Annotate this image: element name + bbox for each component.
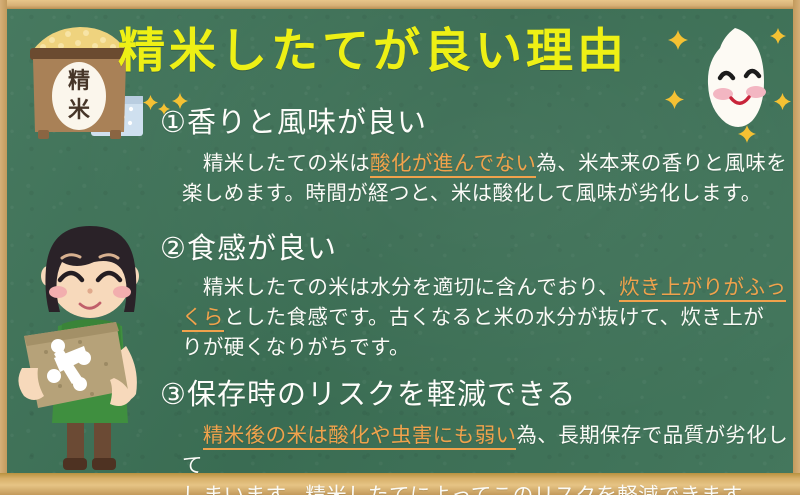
section-1-heading: ①香りと風味が良い: [160, 108, 427, 137]
section-3-line-2: しまいます。精米したてによってこのリスクを軽減できます。: [182, 480, 798, 495]
bag-rim: [30, 48, 129, 60]
section-2-body: 精米したての米は水分を適切に含んでおり、炊き上がりがふっ くらとした食感です。古…: [182, 272, 794, 362]
text-run: りが硬くなりがちです。: [182, 335, 410, 359]
mascot-body: [708, 28, 764, 127]
cheek-left: [49, 286, 67, 298]
shoe-left: [63, 458, 87, 470]
section-2-line-2: くらとした食感です。古くなると米の水分が抜けて、炊き上が: [182, 302, 794, 332]
text-run: 精米したての米は水分を適切に含んでおり、: [182, 275, 619, 299]
page-title: 精米したてが良い理由: [118, 28, 628, 75]
svg-text:米: 米: [68, 98, 91, 123]
text-run: [182, 423, 203, 447]
section-2-line-3: りが硬くなりがちです。: [182, 332, 794, 362]
section-3-heading: ③保存時のリスクを軽減できる: [160, 380, 576, 409]
sparkle-star-icon: [770, 28, 786, 48]
highlight-run: くら: [182, 305, 224, 332]
woman-holding-rice-sack-illustration: [18, 218, 166, 480]
rice-grain-heap: [33, 27, 126, 50]
sparkle-star-icon: [738, 125, 756, 147]
svg-text:精: 精: [68, 68, 90, 94]
cheek-right: [113, 286, 131, 298]
sparkle-star-icon: [774, 93, 791, 114]
frame-left-edge: [0, 0, 7, 495]
section-3-line-1: 精米後の米は酸化や虫害にも弱い為、長期保存で品質が劣化して: [182, 420, 798, 480]
section-1-line-1: 精米したての米は酸化が進んでない為、米本来の香りと風味を: [182, 148, 790, 178]
highlight-run: 酸化が進んでない: [370, 151, 536, 178]
sparkle-star-icon: [143, 95, 158, 114]
section-1-line-2: 楽しめます。時間が経つと、米は酸化して風味が劣化します。: [182, 178, 790, 208]
section-2-heading: ②食感が良い: [160, 234, 337, 263]
text-run: 楽しめます。時間が経つと、米は酸化して風味が劣化します。: [182, 181, 762, 205]
sparkle-star-icon: [668, 30, 688, 54]
shoe-right: [92, 458, 116, 470]
text-run: とした食感です。古くなると米の水分が抜けて、炊き上が: [224, 305, 764, 329]
highlight-run: 炊き上がりがふっ: [619, 275, 786, 302]
text-run: 為、米本来の香りと風味を: [536, 151, 787, 175]
section-2-line-1: 精米したての米は水分を適切に含んでおり、炊き上がりがふっ: [182, 272, 794, 302]
chalkboard-infographic: 精 米 精米したてが良い理由: [0, 0, 800, 495]
text-run: しまいます。精米したてによってこのリスクを軽減できます。: [182, 483, 761, 495]
section-1-body: 精米したての米は酸化が進んでない為、米本来の香りと風味を 楽しめます。時間が経つ…: [182, 148, 790, 208]
section-3-body: 精米後の米は酸化や虫害にも弱い為、長期保存で品質が劣化して しまいます。精米した…: [182, 420, 798, 495]
sparkle-star-icon: [665, 90, 684, 113]
text-run: 精米したての米は: [182, 151, 370, 175]
highlight-run: 精米後の米は酸化や虫害にも弱い: [203, 423, 517, 450]
nose: [87, 288, 92, 293]
frame-top-edge: [0, 0, 800, 9]
